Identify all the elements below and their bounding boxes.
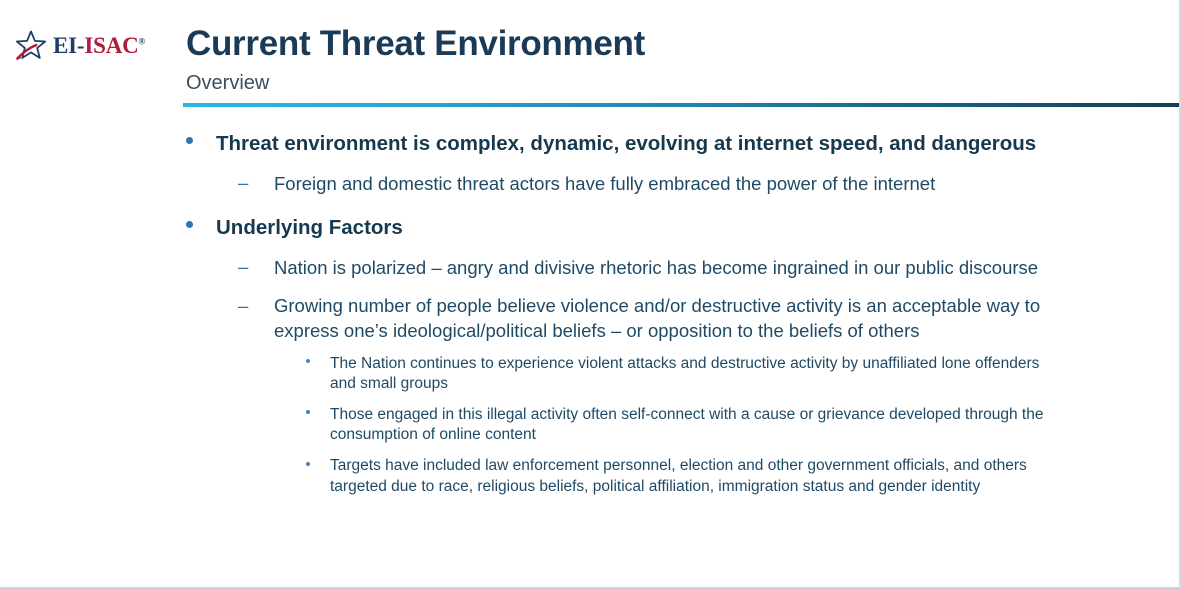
star-icon — [14, 28, 48, 62]
page-title: Current Threat Environment — [186, 24, 645, 64]
bullet-level2: – Nation is polarized – angry and divisi… — [238, 256, 1046, 280]
slide-body: Threat environment is complex, dynamic, … — [0, 112, 1179, 587]
bullet-list-level2: – Nation is polarized – angry and divisi… — [216, 256, 1046, 497]
bullet-text: Underlying Factors — [216, 216, 403, 239]
bullet-text: Nation is polarized – angry and divisive… — [274, 257, 1038, 278]
bullet-list-level2: – Foreign and domestic threat actors hav… — [216, 172, 1046, 196]
bullet-text: Growing number of people believe violenc… — [274, 295, 1040, 340]
bullet-marker-level3 — [306, 359, 310, 363]
bullet-marker-level2: – — [238, 294, 248, 318]
slide-canvas: EI-ISAC® Current Threat Environment Over… — [0, 0, 1181, 590]
trademark-symbol: ® — [139, 36, 146, 46]
ei-isac-wordmark: EI-ISAC® — [53, 34, 145, 57]
slide-header: EI-ISAC® Current Threat Environment Over… — [0, 0, 1179, 112]
bullet-level3: Targets have included law enforcement pe… — [300, 456, 1046, 496]
ei-isac-logo: EI-ISAC® — [14, 28, 145, 62]
bullet-text: Targets have included law enforcement pe… — [330, 457, 1027, 494]
bullet-list-level3: The Nation continues to experience viole… — [274, 354, 1046, 497]
bullet-marker-level2: – — [238, 171, 248, 195]
bullet-text: Foreign and domestic threat actors have … — [274, 173, 935, 194]
bullet-text: The Nation continues to experience viole… — [330, 355, 1039, 392]
logo-text-secondary: ISAC — [84, 33, 138, 58]
bullet-list-level1: Threat environment is complex, dynamic, … — [180, 131, 1139, 497]
bullet-level3: The Nation continues to experience viole… — [300, 354, 1046, 394]
bullet-level2: – Foreign and domestic threat actors hav… — [238, 172, 1046, 196]
bullet-level1: Underlying Factors – Nation is polarized… — [180, 215, 1046, 497]
bullet-level1: Threat environment is complex, dynamic, … — [180, 131, 1046, 196]
bullet-marker-level1 — [186, 221, 193, 228]
bullet-text: Threat environment is complex, dynamic, … — [216, 132, 1036, 155]
bullet-level2: – Growing number of people believe viole… — [238, 294, 1046, 497]
bullet-text: Those engaged in this illegal activity o… — [330, 406, 1043, 443]
bullet-marker-level2: – — [238, 255, 248, 279]
bullet-marker-level3 — [306, 462, 310, 466]
logo-text-primary: EI- — [53, 33, 84, 58]
bullet-level3: Those engaged in this illegal activity o… — [300, 405, 1046, 445]
bullet-marker-level1 — [186, 137, 193, 144]
header-divider — [183, 103, 1179, 107]
page-subtitle: Overview — [186, 72, 269, 95]
bullet-marker-level3 — [306, 410, 310, 414]
